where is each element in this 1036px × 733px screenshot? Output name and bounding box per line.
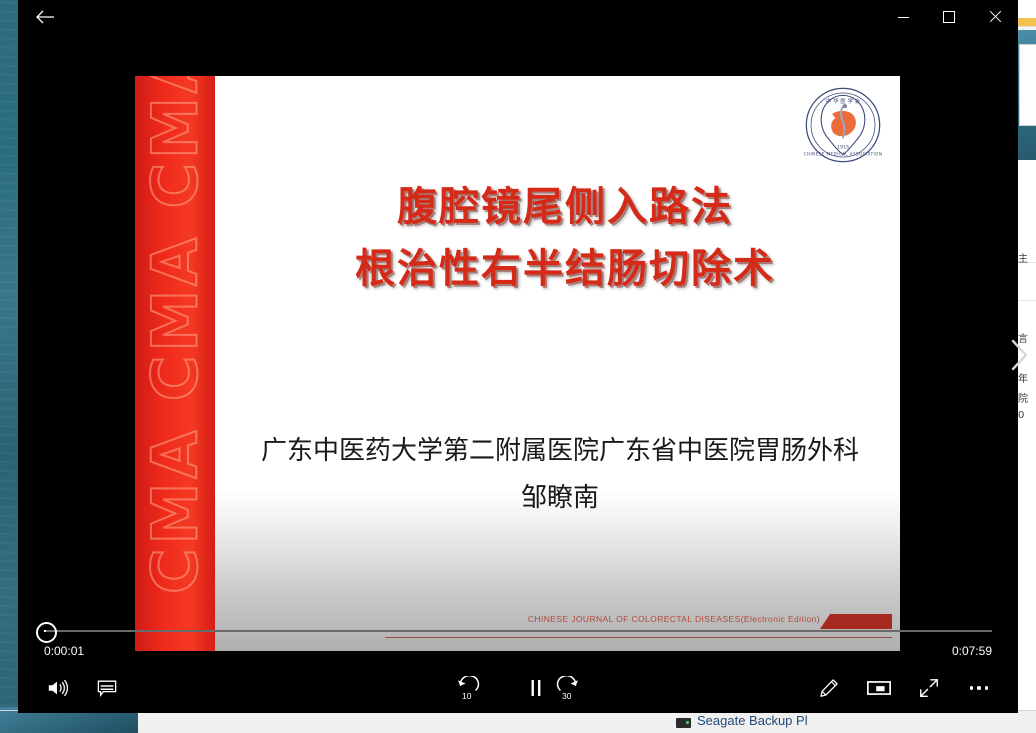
slide-background (135, 76, 900, 651)
current-time: 0:00:01 (44, 644, 84, 658)
fullscreen-button[interactable] (910, 671, 948, 705)
slide-subtitle: 广东中医药大学第二附属医院广东省中医院胃肠外科 邹瞭南 (225, 428, 895, 522)
svg-text:1915: 1915 (837, 144, 849, 150)
more-options-button[interactable] (960, 671, 998, 705)
cma-brand-strip: CMA CMA CMA (135, 76, 215, 651)
svg-text:CHINESE MEDICAL ASSOCIATION: CHINESE MEDICAL ASSOCIATION (804, 151, 882, 156)
close-icon (989, 11, 1001, 23)
next-button[interactable] (1002, 330, 1036, 380)
slide-title-line-2: 根治性右半结肠切除术 (235, 238, 895, 300)
drive-icon (676, 718, 691, 728)
draw-button[interactable] (810, 671, 848, 705)
background-window-text: 主 (1018, 250, 1028, 265)
mini-player-button[interactable] (860, 671, 898, 705)
presentation-slide: CMA CMA CMA 中 华 医 学 会 1915 CHINESE MEDIC… (135, 76, 900, 651)
chinese-medical-association-logo: 中 华 医 学 会 1915 CHINESE MEDICAL ASSOCIATI… (804, 86, 882, 164)
window-titlebar (18, 0, 1018, 34)
total-time: 0:07:59 (952, 644, 992, 658)
taskbar-strip[interactable]: Seagate Backup Pl (0, 710, 1036, 733)
background-window-text: 院 (1018, 390, 1028, 405)
minimize-button[interactable] (880, 0, 926, 34)
cma-strip-text: CMA CMA CMA (139, 76, 212, 603)
ellipsis-icon (970, 686, 989, 690)
slide-title-line-1: 腹腔镜尾侧入路法 (235, 176, 895, 238)
slide-presenter: 邹瞭南 (225, 475, 895, 522)
captions-button[interactable] (88, 671, 126, 705)
background-window-accent (1016, 18, 1036, 26)
rewind-10-button[interactable]: 10 (449, 671, 487, 705)
slide-title: 腹腔镜尾侧入路法 根治性右半结肠切除术 (235, 176, 895, 300)
background-window-text: 0 (1018, 410, 1024, 421)
maximize-icon (943, 11, 955, 23)
close-button[interactable] (972, 0, 1018, 34)
back-button[interactable] (22, 0, 68, 34)
background-window-card (1019, 44, 1036, 126)
background-window-body (1016, 200, 1036, 733)
taskbar-thumbnail (0, 711, 138, 733)
window-controls (880, 0, 1018, 34)
background-window-divider (1016, 300, 1036, 301)
video-stage[interactable]: CMA CMA CMA 中 华 医 学 会 1915 CHINESE MEDIC… (18, 34, 1018, 620)
minimize-icon (898, 17, 909, 18)
seek-thumb[interactable] (36, 622, 57, 643)
maximize-button[interactable] (926, 0, 972, 34)
taskbar-item-label: Seagate Backup Pl (697, 713, 808, 728)
seek-bar[interactable]: 0:00:01 0:07:59 (18, 620, 1018, 668)
slide-affiliation: 广东中医药大学第二附属医院广东省中医院胃肠外科 (225, 428, 895, 475)
volume-button[interactable] (38, 671, 76, 705)
forward-30-button[interactable]: 30 (549, 671, 587, 705)
screen: 主 言 年 院 0 Seagate Backup Pl (0, 0, 1036, 733)
video-player-window: CMA CMA CMA 中 华 医 学 会 1915 CHINESE MEDIC… (18, 0, 1018, 713)
seek-track[interactable] (44, 630, 992, 632)
player-controls: 10 30 (18, 663, 1018, 713)
